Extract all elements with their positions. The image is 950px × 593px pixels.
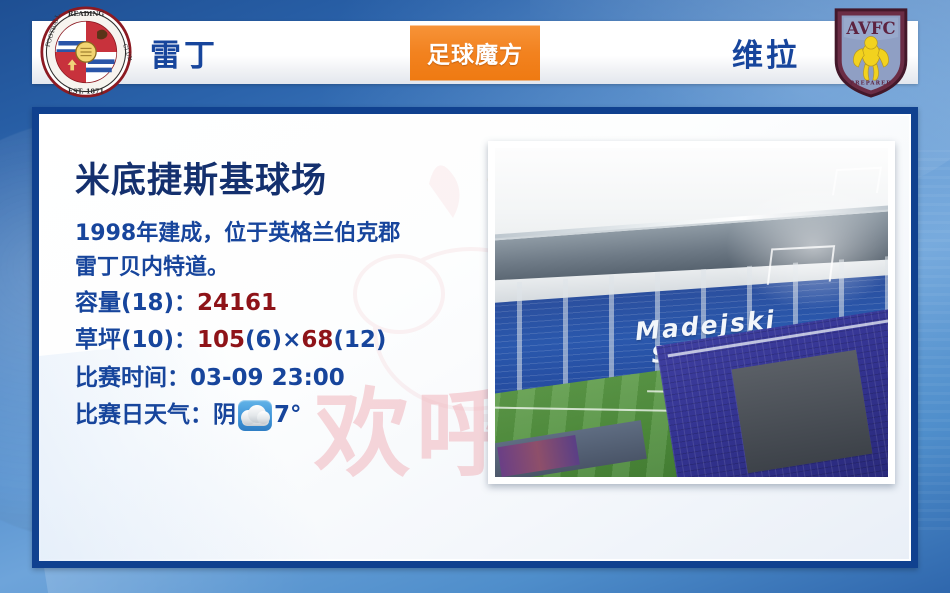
photo-goal-near <box>767 245 835 285</box>
pitch-length-rank: (6) <box>245 322 282 359</box>
stadium-photo-frame: Madejski Stadium <box>488 141 895 484</box>
match-time-value: 03-09 23:00 <box>190 360 345 397</box>
away-team-name: 维拉 <box>732 21 800 84</box>
pitch-size-row: 草坪(10)： 105 (6) × 68 (12) <box>75 322 505 359</box>
match-header-bar: 雷丁 足球魔方 维拉 <box>32 21 918 84</box>
aston-villa-crest-icon: AVFC PREPARED <box>832 6 910 102</box>
pitch-multiply-sign: × <box>282 322 301 359</box>
reading-fc-crest-icon: READING EST. 1871 FOOTBALL CLUB <box>40 6 132 102</box>
svg-text:AVFC: AVFC <box>845 19 895 38</box>
pitch-label: 草坪(10)： <box>75 322 197 359</box>
capacity-value: 24161 <box>197 285 277 322</box>
photo-goal-far <box>832 166 882 195</box>
match-time-row: 比赛时间： 03-09 23:00 <box>75 360 505 397</box>
capacity-label: 容量(18)： <box>75 285 197 322</box>
svg-text:EST. 1871: EST. 1871 <box>68 87 104 95</box>
svg-text:PREPARED: PREPARED <box>850 80 892 86</box>
home-team-name: 雷丁 <box>150 21 218 84</box>
capacity-row: 容量(18)： 24161 <box>75 285 505 322</box>
stadium-info-block: 米底捷斯基球场 1998年建成，位于英格兰伯克郡 雷丁贝内特道。 容量(18)：… <box>75 152 505 434</box>
svg-text:READING: READING <box>68 10 105 18</box>
weather-label: 比赛日天气： <box>75 397 213 434</box>
site-logo-badge[interactable]: 足球魔方 <box>410 25 540 80</box>
stadium-info-card: 雷丁 足球魔方 维拉 READING EST. 1871 FOOTBALL C <box>0 0 950 593</box>
weather-row: 比赛日天气： 阴 7° <box>75 397 505 434</box>
stadium-photo: Madejski Stadium <box>495 148 888 477</box>
info-panel: .coo 欢呼 米底捷斯基球场 1998年建成，位于英格兰伯克郡 雷丁贝内特道。… <box>32 107 918 568</box>
stadium-title: 米底捷斯基球场 <box>75 152 505 203</box>
pitch-width-rank: (12) <box>333 322 386 359</box>
match-time-label: 比赛时间： <box>75 360 190 397</box>
pitch-length-value: 105 <box>197 322 245 359</box>
photo-dugout <box>731 349 872 473</box>
pitch-width-value: 68 <box>301 322 333 359</box>
weather-temperature: 7° <box>274 397 302 434</box>
stadium-description-line-1: 1998年建成，位于英格兰伯克郡 <box>75 217 505 251</box>
stadium-description-line-2: 雷丁贝内特道。 <box>75 251 505 285</box>
cloudy-icon <box>238 400 272 431</box>
weather-condition: 阴 <box>213 397 236 434</box>
